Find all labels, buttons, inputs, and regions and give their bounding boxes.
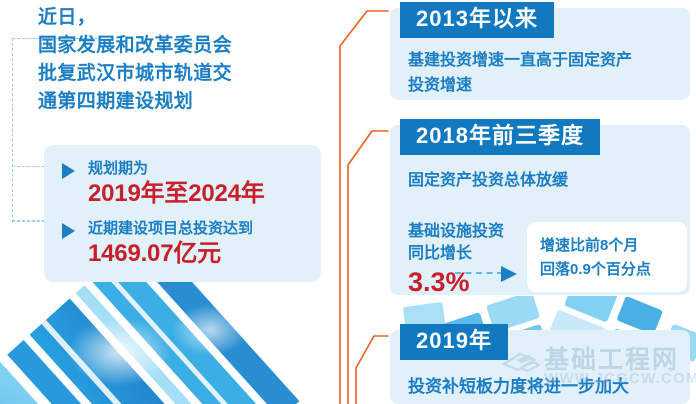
panel-2019-body-line-1: 投资补短板力度将进一步加大: [408, 374, 688, 399]
triangle-bullet-icon: [62, 163, 75, 179]
plan-investment-label: 近期建设项目总投资达到: [88, 219, 313, 239]
headline-line-1: 近日，: [38, 4, 328, 32]
panel-2013: 2013年以来 基建投资增速一直高于固定资产 投资增速: [390, 8, 690, 100]
panel-2018-body: 固定资产投资总体放缓: [408, 168, 680, 193]
plan-period-label: 规划期为: [88, 159, 313, 179]
page-title: 近日， 国家发展和改革委员会 批复武汉市城市轨道交 通第四期建设规划: [38, 4, 328, 116]
triangle-bullet-icon: [62, 223, 75, 239]
panel-2018-body-line-1: 固定资产投资总体放缓: [408, 168, 680, 193]
panel-2018-heading: 2018年前三季度: [400, 119, 600, 155]
callout-text: 增速比前8个月 回落0.9个百分点: [540, 234, 651, 282]
growth-label-line-2: 同比增长: [408, 243, 504, 265]
plan-bullet-investment: 近期建设项目总投资达到 1469.07亿元: [62, 219, 313, 269]
growth-callout-box: 增速比前8个月 回落0.9个百分点: [527, 222, 687, 292]
plan-period-value: 2019年至2024年: [88, 179, 313, 209]
panel-2013-heading: 2013年以来: [400, 2, 554, 38]
headline-line-3: 批复武汉市城市轨道交: [38, 60, 328, 88]
panel-2013-body: 基建投资增速一直高于固定资产 投资增速: [408, 48, 680, 98]
headline-line-2: 国家发展和改革委员会: [38, 32, 328, 60]
panel-2019: 2019年 投资补短板力度将进一步加大: [390, 330, 690, 404]
infrastructure-growth-block: 基础设施投资 同比增长 3.3%: [408, 221, 504, 298]
panel-2019-heading: 2019年: [400, 324, 508, 360]
left-column: 近日， 国家发展和改革委员会 批复武汉市城市轨道交 通第四期建设规划 规划期为 …: [0, 0, 340, 404]
callout-line-2: 回落0.9个百分点: [540, 258, 651, 282]
connector-lines: [340, 11, 388, 404]
callout-line-1: 增速比前8个月: [540, 234, 651, 258]
dashed-arrow-head: [501, 266, 517, 282]
panel-2013-body-line-2: 投资增速: [408, 73, 680, 98]
plan-summary-card: 规划期为 2019年至2024年 近期建设项目总投资达到 1469.07亿元: [44, 145, 321, 282]
dashed-arrow-line: [455, 272, 503, 274]
panel-2019-body: 投资补短板力度将进一步加大: [408, 374, 688, 399]
headline-line-4: 通第四期建设规划: [38, 88, 328, 116]
plan-bullet-period: 规划期为 2019年至2024年: [62, 159, 313, 209]
growth-label-line-1: 基础设施投资: [408, 221, 504, 243]
panel-2013-body-line-1: 基建投资增速一直高于固定资产: [408, 48, 680, 73]
plan-investment-value: 1469.07亿元: [88, 239, 313, 269]
infographic-canvas: 近日， 国家发展和改革委员会 批复武汉市城市轨道交 通第四期建设规划 规划期为 …: [0, 0, 696, 404]
dashed-arrow-icon: [455, 266, 523, 280]
